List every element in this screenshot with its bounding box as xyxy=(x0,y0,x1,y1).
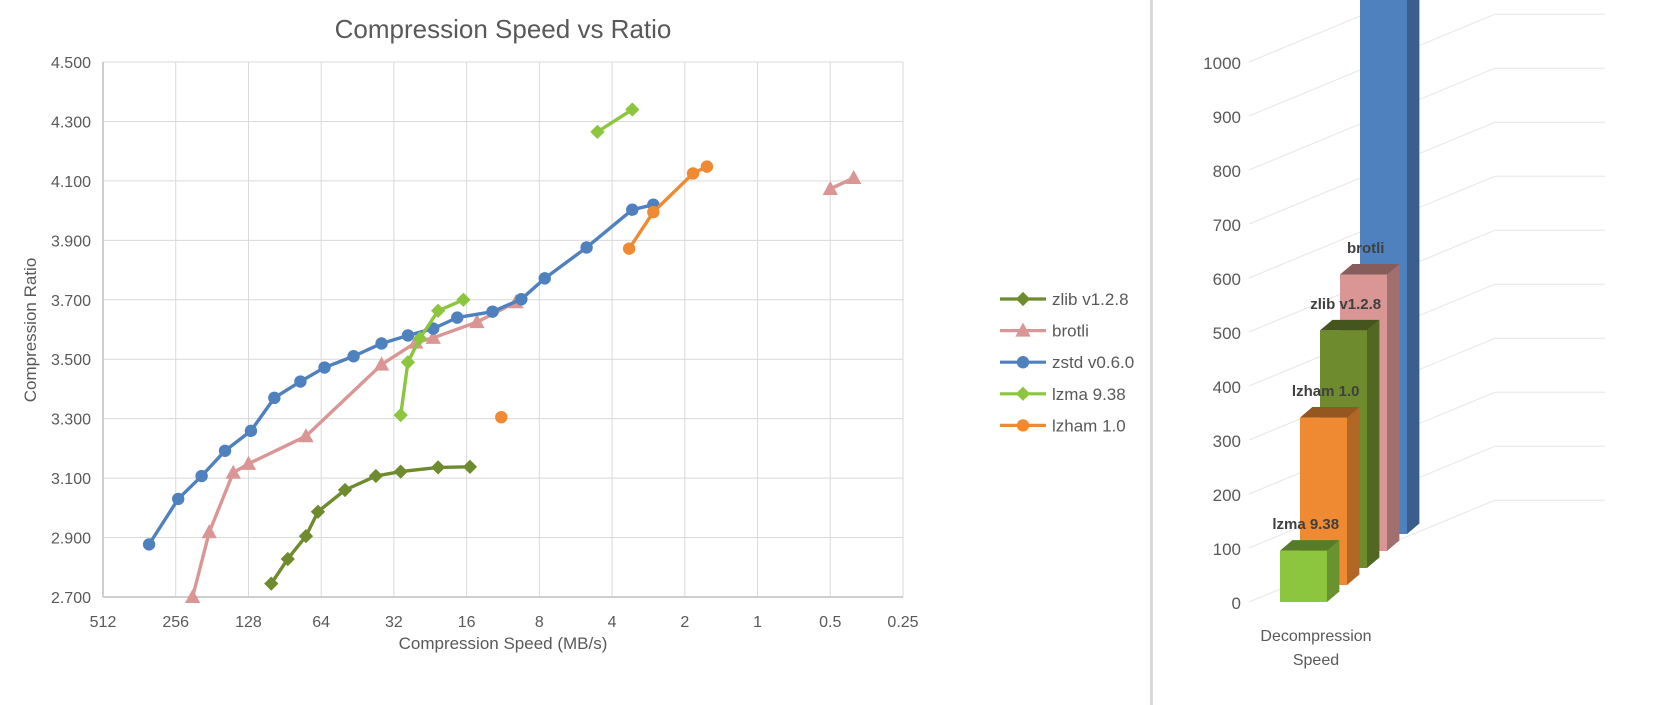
bar-y-axis-tick: 300 xyxy=(1213,432,1241,451)
x-axis-tick: 32 xyxy=(385,614,403,631)
data-point-circle xyxy=(495,411,507,423)
y-axis-tick: 4.300 xyxy=(51,114,91,131)
series-line xyxy=(597,110,632,132)
data-point-circle xyxy=(318,361,330,373)
bar-y-axis-tick: 400 xyxy=(1213,378,1241,397)
panel-divider xyxy=(1150,0,1153,705)
data-point-circle xyxy=(687,167,699,179)
data-point-diamond xyxy=(401,355,415,369)
x-axis-tick: 1 xyxy=(753,614,762,631)
data-point-diamond xyxy=(369,469,383,483)
x-axis-tick: 0.5 xyxy=(819,614,841,631)
x-axis-tick: 0.25 xyxy=(887,614,918,631)
legend-label: lzma 9.38 xyxy=(1052,385,1126,404)
x-axis-title: Compression Speed (MB/s) xyxy=(399,634,608,653)
x-axis-tick: 128 xyxy=(235,614,262,631)
data-point-circle xyxy=(245,425,257,437)
bar-y-axis-tick: 200 xyxy=(1213,486,1241,505)
series-line xyxy=(193,302,516,597)
scatter-chart-panel: Compression Speed vs Ratio2.7002.9003.10… xyxy=(0,0,1148,705)
data-point-diamond xyxy=(394,408,408,422)
bar-data-label: lzma 9.38 xyxy=(1272,516,1339,533)
data-point-circle xyxy=(294,375,306,387)
y-axis-tick: 3.300 xyxy=(51,412,91,429)
bar-data-label: lzham 1.0 xyxy=(1292,383,1360,400)
data-point-diamond xyxy=(1016,387,1030,401)
x-axis-tick: 512 xyxy=(90,614,117,631)
bar-y-axis-tick: 800 xyxy=(1213,162,1241,181)
data-point-triangle xyxy=(202,524,217,538)
legend-label: lzham 1.0 xyxy=(1052,416,1126,435)
data-point-circle xyxy=(486,305,498,317)
y-axis-tick: 3.700 xyxy=(51,293,91,310)
data-point-circle xyxy=(1017,356,1029,368)
legend-item[interactable]: brotli xyxy=(1000,322,1089,341)
data-point-diamond xyxy=(1016,292,1030,306)
data-point-diamond xyxy=(463,460,477,474)
bar-side-face xyxy=(1407,0,1419,534)
bar-side-face xyxy=(1347,407,1359,585)
series-zstd-v0-6-0 xyxy=(143,198,660,550)
y-axis-tick: 4.500 xyxy=(51,55,91,72)
dashboard-root: Compression Speed vs Ratio2.7002.9003.10… xyxy=(0,0,1670,705)
x-axis-tick: 64 xyxy=(312,614,330,631)
data-point-circle xyxy=(402,329,414,341)
x-axis-tick: 4 xyxy=(608,614,617,631)
chart-title: Compression Speed vs Ratio xyxy=(335,14,672,44)
bar-column[interactable]: lzma 9.38 xyxy=(1272,516,1339,602)
legend-label: brotli xyxy=(1052,322,1089,341)
bar-side-face xyxy=(1327,540,1339,602)
x-axis-tick: 256 xyxy=(162,614,189,631)
series-zlib-v1-2-8 xyxy=(264,460,477,591)
bar-front-face xyxy=(1280,551,1327,602)
data-point-diamond xyxy=(456,293,470,307)
data-point-circle xyxy=(539,272,551,284)
bar-data-label: zlib v1.2.8 xyxy=(1310,296,1381,313)
bar-data-label: brotli xyxy=(1347,240,1385,257)
bar-y-axis-tick: 600 xyxy=(1213,270,1241,289)
data-point-circle xyxy=(515,293,527,305)
bar-side-face xyxy=(1387,264,1399,551)
bar-y-axis-tick: 700 xyxy=(1213,216,1241,235)
data-point-circle xyxy=(143,538,155,550)
bar-x-axis-title-line1: Decompression xyxy=(1260,628,1371,645)
data-point-circle xyxy=(647,206,659,218)
data-point-triangle xyxy=(846,170,861,184)
decompression-speed-bar-chart: 01002003004005006007008009001000zstd v0.… xyxy=(1156,0,1670,705)
legend: zlib v1.2.8brotlizstd v0.6.0lzma 9.38lzh… xyxy=(1000,290,1134,435)
bar-y-axis-tick: 500 xyxy=(1213,324,1241,343)
x-axis-tick: 8 xyxy=(535,614,544,631)
data-point-circle xyxy=(375,337,387,349)
bar-y-axis-tick: 900 xyxy=(1213,108,1241,127)
data-point-circle xyxy=(580,241,592,253)
data-point-circle xyxy=(626,204,638,216)
y-axis-tick: 2.700 xyxy=(51,590,91,607)
series-brotli xyxy=(185,170,861,603)
data-point-circle xyxy=(623,242,635,254)
y-axis-tick: 2.900 xyxy=(51,531,91,548)
data-point-triangle xyxy=(226,465,241,479)
bar-y-axis-tick: 100 xyxy=(1213,540,1241,559)
bar-y-axis-tick: 1000 xyxy=(1203,54,1241,73)
data-point-circle xyxy=(1017,419,1029,431)
scatter-chart: Compression Speed vs Ratio2.7002.9003.10… xyxy=(0,0,1148,705)
data-point-triangle xyxy=(185,589,200,603)
bar-x-axis-title-line2: Speed xyxy=(1293,652,1339,669)
series-lzma-9-38 xyxy=(394,102,640,422)
x-axis-tick: 16 xyxy=(458,614,476,631)
legend-label: zlib v1.2.8 xyxy=(1052,290,1129,309)
legend-item[interactable]: zlib v1.2.8 xyxy=(1000,290,1129,309)
data-point-circle xyxy=(701,160,713,172)
legend-item[interactable]: lzham 1.0 xyxy=(1000,416,1126,435)
bar-side-face xyxy=(1367,320,1379,568)
data-point-circle xyxy=(268,392,280,404)
data-point-triangle xyxy=(374,357,389,371)
y-axis-title: Compression Ratio xyxy=(21,258,40,403)
y-axis-tick: 4.100 xyxy=(51,174,91,191)
data-point-circle xyxy=(172,493,184,505)
data-point-circle xyxy=(347,350,359,362)
x-axis-tick: 2 xyxy=(680,614,689,631)
y-axis-tick: 3.100 xyxy=(51,471,91,488)
bar-y-axis-tick: 0 xyxy=(1232,594,1241,613)
legend-label: zstd v0.6.0 xyxy=(1052,353,1134,372)
data-point-diamond xyxy=(394,464,408,478)
y-axis-tick: 3.900 xyxy=(51,233,91,250)
series-line xyxy=(271,467,470,584)
data-point-circle xyxy=(219,445,231,457)
data-point-diamond xyxy=(431,460,445,474)
bar-chart-panel: 01002003004005006007008009001000zstd v0.… xyxy=(1156,0,1670,705)
y-axis-tick: 3.500 xyxy=(51,352,91,369)
legend-item[interactable]: zstd v0.6.0 xyxy=(1000,353,1134,372)
legend-item[interactable]: lzma 9.38 xyxy=(1000,385,1126,404)
data-point-circle xyxy=(195,470,207,482)
data-point-circle xyxy=(451,311,463,323)
